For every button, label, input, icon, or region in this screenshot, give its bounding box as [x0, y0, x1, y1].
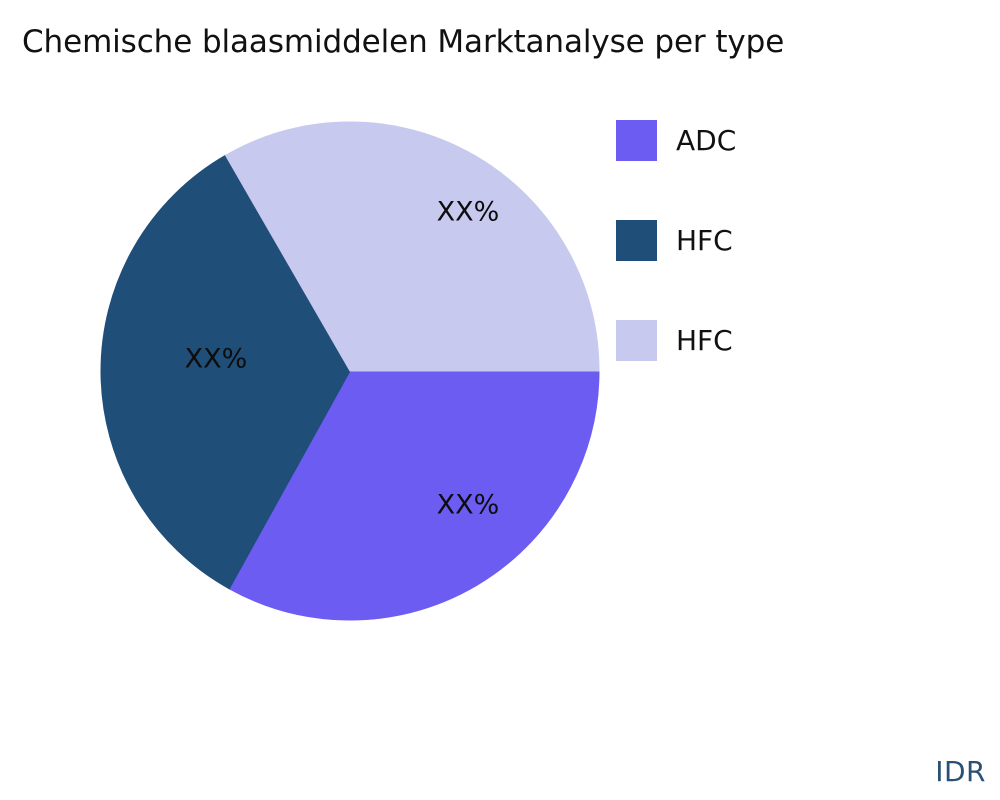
legend-item-label: ADC [676, 120, 736, 161]
legend-item-label: HFC [676, 220, 733, 261]
page-title: Chemische blaasmiddelen Marktanalyse per… [22, 22, 962, 62]
pie-slices [101, 122, 599, 620]
legend-item-hfc-dark[interactable]: HFC [616, 212, 946, 312]
pie-chart-figure: Chemische blaasmiddelen Marktanalyse per… [0, 0, 1000, 800]
legend-item-adc[interactable]: ADC [616, 112, 946, 212]
legend-swatch-icon [616, 220, 657, 261]
pie-slice-label-adc: XX% [437, 490, 500, 521]
legend-item-label: HFC [676, 320, 733, 361]
pie-slice-label-hfc-light: XX% [437, 197, 500, 228]
legend-swatch-icon [616, 320, 657, 361]
watermark-idr: IDR [935, 755, 986, 788]
pie-svg: XX% XX% XX% [95, 116, 605, 626]
legend-swatch-icon [616, 120, 657, 161]
legend-item-hfc-light[interactable]: HFC [616, 312, 946, 412]
chart-legend: ADC HFC HFC [616, 112, 946, 412]
pie-slice-label-hfc-dark: XX% [185, 344, 248, 375]
pie-plot-area: XX% XX% XX% [95, 116, 605, 626]
